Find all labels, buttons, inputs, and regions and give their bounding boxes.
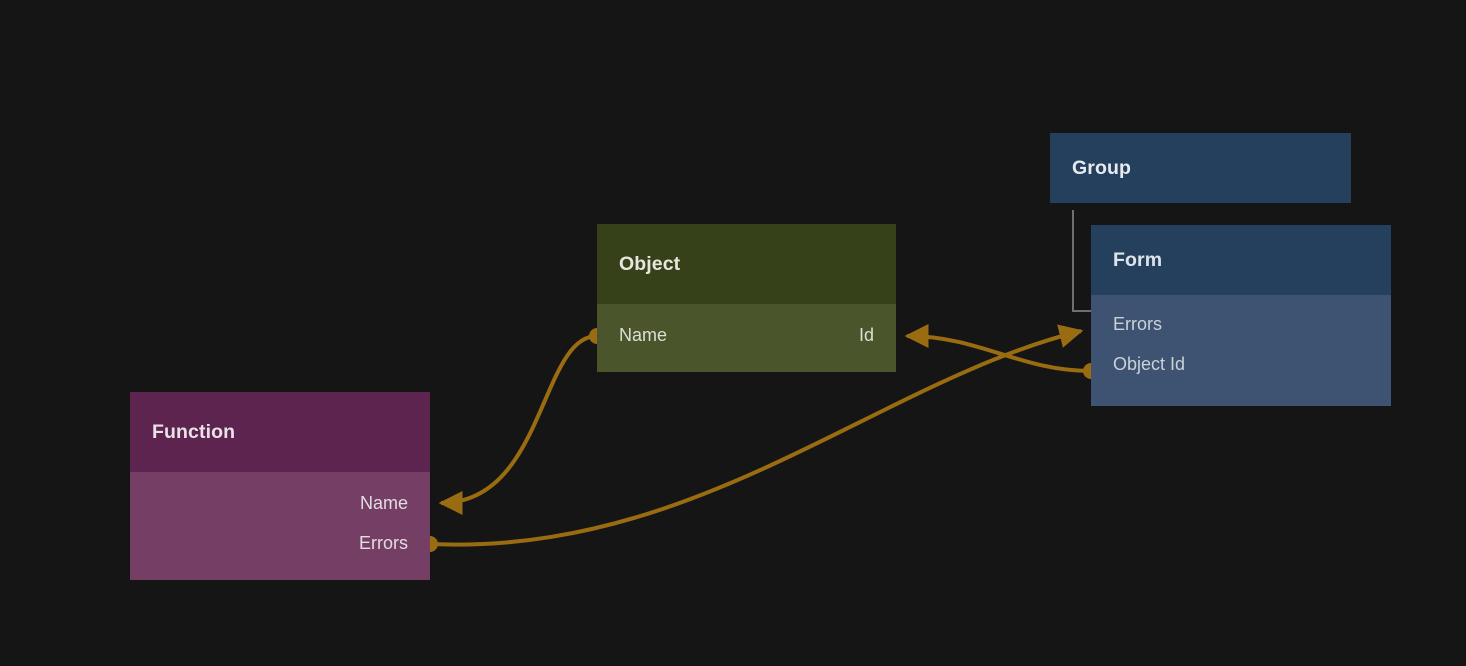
field-label-object-name: Name xyxy=(619,325,667,346)
field-label-form-errors: Errors xyxy=(1113,314,1162,335)
node-object-header[interactable]: Object xyxy=(597,224,896,304)
field-label-function-errors: Errors xyxy=(359,533,408,554)
field-row-function-errors[interactable]: Errors xyxy=(130,523,430,563)
edge-object-name-to-function-name xyxy=(441,336,597,503)
node-form-title: Form xyxy=(1113,249,1162,272)
node-object-body: Name Id xyxy=(597,304,896,372)
node-function[interactable]: Function Name Errors xyxy=(130,392,430,580)
node-form-header[interactable]: Form xyxy=(1091,225,1391,295)
field-row-form-object-id[interactable]: Object Id xyxy=(1091,344,1391,384)
field-label-form-object-id: Object Id xyxy=(1113,354,1185,375)
node-function-header[interactable]: Function xyxy=(130,392,430,472)
field-row-form-errors[interactable]: Errors xyxy=(1091,304,1391,344)
field-row-function-name[interactable]: Name xyxy=(130,483,430,523)
node-group-header[interactable]: Group xyxy=(1050,133,1351,203)
node-form-body: Errors Object Id xyxy=(1091,295,1391,406)
node-graph-canvas[interactable]: Group Form Errors Object Id Object Name … xyxy=(0,0,1466,666)
node-group-title: Group xyxy=(1072,157,1131,180)
field-label-function-name: Name xyxy=(360,493,408,514)
node-object[interactable]: Object Name Id xyxy=(597,224,896,372)
node-function-title: Function xyxy=(152,421,235,444)
edge-form-objectid-to-object-id xyxy=(907,336,1091,371)
node-form[interactable]: Form Errors Object Id xyxy=(1091,225,1391,406)
field-label-object-id: Id xyxy=(859,325,874,346)
node-object-title: Object xyxy=(619,253,680,276)
field-row-object-name-id[interactable]: Name Id xyxy=(597,315,896,355)
node-group[interactable]: Group xyxy=(1050,133,1351,203)
node-function-body: Name Errors xyxy=(130,472,430,580)
